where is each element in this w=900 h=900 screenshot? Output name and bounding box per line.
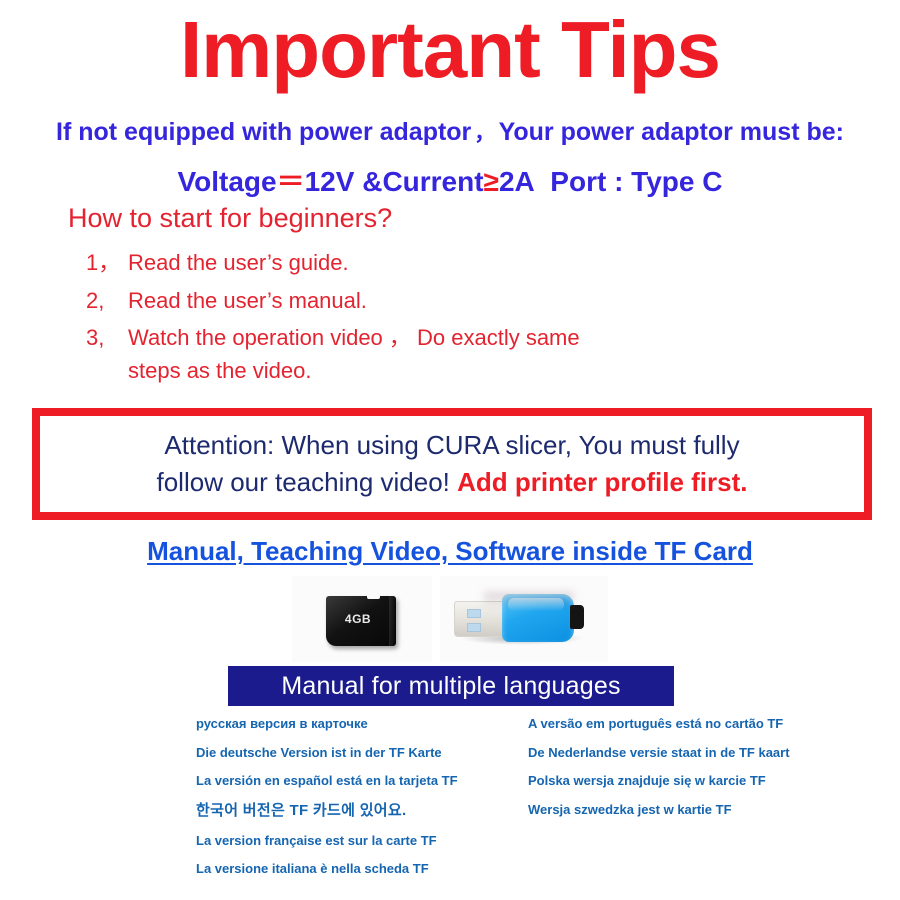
port-spec: Port : Type C	[550, 166, 722, 197]
voltage-value: 12V	[305, 166, 355, 197]
list-item: русская версия в карточке	[196, 716, 506, 732]
usb-photo-haze	[484, 592, 574, 608]
list-item: 3, Watch the operation video ， Do exactl…	[86, 324, 846, 352]
equals-symbol-icon: ＝	[277, 166, 305, 197]
adaptor-requirement-line: If not equipped with power adaptor，Your …	[0, 116, 900, 147]
microsd-card-photo-pane: 4GB	[292, 576, 432, 662]
usb-pin	[467, 623, 481, 632]
tips-page: Important Tips If not equipped with powe…	[0, 0, 900, 900]
language-column-right: A versão em português está no cartão TF …	[528, 716, 858, 830]
usb-pin	[467, 609, 481, 618]
microsd-bevel	[389, 596, 396, 646]
voltage-label: Voltage	[178, 166, 277, 197]
attention-line-2: follow our teaching video! Add printer p…	[157, 464, 748, 501]
adaptor-line1-comma: ，	[471, 121, 498, 145]
tf-card-contents-link[interactable]: Manual, Teaching Video, Software inside …	[0, 536, 900, 567]
list-item: La versión en español está en la tarjeta…	[196, 773, 506, 789]
beginners-heading: How to start for beginners?	[68, 203, 392, 234]
list-item: 1， Read the user’s guide.	[86, 249, 846, 277]
adaptor-line1-part1: If not equipped with power adaptor	[56, 118, 471, 146]
list-item: La version française est sur la carte TF	[196, 833, 506, 849]
list-item: 한국어 버전은 TF 카드에 있어요.	[196, 802, 506, 820]
microsd-capacity-label: 4GB	[326, 612, 390, 626]
step-text: Read the user’s guide.	[128, 249, 846, 277]
current-value: 2A	[499, 166, 535, 197]
step-text: Read the user’s manual.	[128, 287, 846, 315]
step-number: 1，	[86, 249, 128, 277]
microsd-card-icon: 4GB	[326, 596, 396, 646]
product-photo: 4GB	[292, 576, 608, 662]
list-item: Die deutsche Version ist in der TF Karte	[196, 745, 506, 761]
list-item: A versão em português está no cartão TF	[528, 716, 858, 732]
list-item: Polska wersja znajduje się w karcie TF	[528, 773, 858, 789]
attention-line2-blue: follow our teaching video!	[157, 467, 450, 497]
attention-box: Attention: When using CURA slicer, You m…	[32, 408, 872, 520]
step-text: Watch the operation video ， Do exactly s…	[128, 324, 846, 352]
beginner-steps-list: 1， Read the user’s guide. 2, Read the us…	[86, 249, 846, 384]
current-label: &Current	[362, 166, 483, 197]
microsd-notch	[367, 592, 380, 599]
list-item: 2, Read the user’s manual.	[86, 287, 846, 315]
attention-line2-red: Add printer profile first.	[457, 467, 747, 497]
step-number: 3,	[86, 324, 128, 352]
page-title: Important Tips	[0, 8, 900, 92]
attention-line-1: Attention: When using CURA slicer, You m…	[164, 427, 739, 464]
usb-card-reader-icon	[454, 592, 592, 644]
languages-banner: Manual for multiple languages	[228, 666, 674, 706]
step-text-continuation: steps as the video.	[128, 358, 846, 384]
list-item: La versione italiana è nella scheda TF	[196, 861, 506, 877]
list-item: De Nederlandse versie staat in de TF kaa…	[528, 745, 858, 761]
language-list: русская версия в карточке Die deutsche V…	[0, 716, 900, 876]
languages-banner-text: Manual for multiple languages	[281, 672, 620, 701]
list-item: Wersja szwedzka jest w kartie TF	[528, 802, 858, 818]
adaptor-spec-line: Voltage＝12V &Current≥2A Port : Type C	[0, 160, 900, 200]
language-column-left: русская версия в карточке Die deutsche V…	[196, 716, 506, 890]
usb-reader-photo-pane	[440, 576, 608, 662]
greater-equal-symbol-icon: ≥	[484, 166, 499, 197]
step-number: 2,	[86, 287, 128, 315]
usb-black-tip	[570, 605, 584, 629]
adaptor-line1-part2: Your power adaptor must be:	[499, 118, 844, 146]
